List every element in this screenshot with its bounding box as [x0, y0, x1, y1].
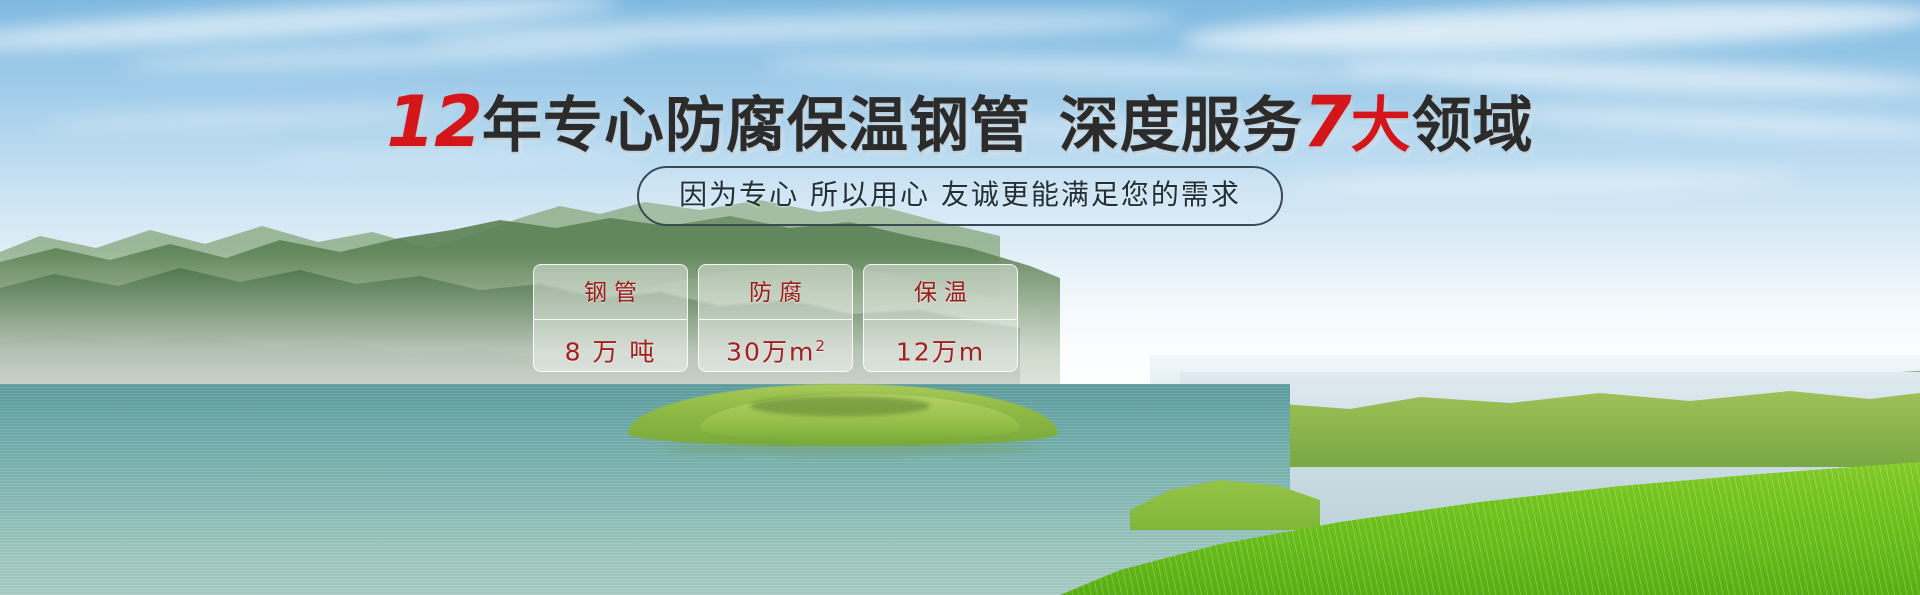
island-shadow	[750, 396, 930, 416]
headline-segment-two: 深度服务	[1059, 91, 1303, 161]
stat-card-divider	[534, 319, 687, 320]
headline-number-fields: 7	[1303, 81, 1351, 163]
banner-subtitle-wrap: 因为专心 所以用心 友诚更能满足您的需求	[0, 166, 1920, 226]
headline-segment-three: 领域	[1412, 91, 1534, 161]
banner-subtitle: 因为专心 所以用心 友诚更能满足您的需求	[637, 166, 1283, 226]
stat-card-value: 12万m	[896, 331, 985, 367]
stat-card-anticorrosion[interactable]: 防腐 30万m2	[698, 264, 853, 372]
headline-segment-one: 年专心防腐保温钢管	[482, 91, 1031, 161]
stat-card-value-text: 12万m	[896, 337, 985, 366]
stat-card-value-text: 8 万 吨	[565, 337, 657, 366]
stat-card-value: 8 万 吨	[565, 331, 657, 367]
stat-card-title: 防腐	[742, 279, 809, 307]
stat-card-value: 30万m2	[726, 331, 825, 367]
stat-card-title: 钢管	[577, 279, 644, 307]
stat-card-divider	[699, 319, 852, 320]
stat-card-group: 钢管 8 万 吨 防腐 30万m2 保温 12万m	[533, 264, 1018, 372]
stat-card-steel-pipe[interactable]: 钢管 8 万 吨	[533, 264, 688, 372]
stat-card-divider	[864, 319, 1017, 320]
stat-card-title: 保温	[907, 279, 974, 307]
banner-headline: 12年专心防腐保温钢管深度服务7大领域	[0, 86, 1920, 162]
stat-card-insulation[interactable]: 保温 12万m	[863, 264, 1018, 372]
headline-accent-da: 大	[1351, 91, 1412, 161]
stat-card-unit-superscript: 2	[815, 337, 825, 355]
stat-card-value-text: 30万m	[726, 337, 815, 366]
hero-banner: 12年专心防腐保温钢管深度服务7大领域 因为专心 所以用心 友诚更能满足您的需求…	[0, 0, 1920, 595]
headline-number-years: 12	[386, 81, 481, 163]
